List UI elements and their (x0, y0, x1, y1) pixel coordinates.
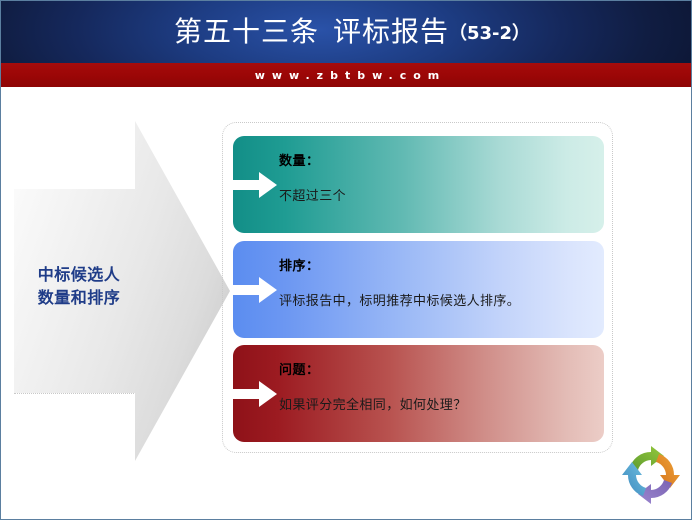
info-card-quantity[interactable]: 数量： 不超过三个 (233, 136, 604, 233)
recycle-cycle-logo-icon (619, 443, 683, 507)
page-title: 第五十三条评标报告（53-2） (164, 18, 530, 46)
site-url: www.zbtbw.com (248, 69, 447, 82)
card-title: 问题： (279, 359, 320, 378)
card-body: 评标报告中，标明推荐中标候选人排序。 (279, 293, 594, 311)
page-title-sub: 评标报告 (333, 15, 449, 48)
white-right-arrow-icon (233, 277, 277, 303)
card-title: 排序： (279, 255, 320, 274)
arrow-label-line2: 数量和排序 (14, 286, 144, 309)
card-body: 不超过三个 (279, 188, 594, 206)
url-band: www.zbtbw.com (1, 63, 692, 87)
info-card-question[interactable]: 问题： 如果评分完全相同，如何处理？ (233, 345, 604, 442)
page-title-number: （53-2） (449, 23, 530, 44)
card-body: 如果评分完全相同，如何处理？ (279, 397, 594, 415)
slide-canvas: 第五十三条评标报告（53-2） www.zbtbw.com 中标候选人 数量和排… (0, 0, 692, 520)
header-title-container: 第五十三条评标报告（53-2） (1, 1, 692, 63)
arrow-label: 中标候选人 数量和排序 (14, 263, 144, 309)
white-right-arrow-icon (233, 172, 277, 198)
arrow-label-line1: 中标候选人 (14, 263, 144, 286)
white-right-arrow-icon (233, 381, 277, 407)
info-card-ranking[interactable]: 排序： 评标报告中，标明推荐中标候选人排序。 (233, 241, 604, 338)
page-title-main: 第五十三条 (174, 15, 319, 48)
card-title: 数量： (279, 150, 320, 169)
